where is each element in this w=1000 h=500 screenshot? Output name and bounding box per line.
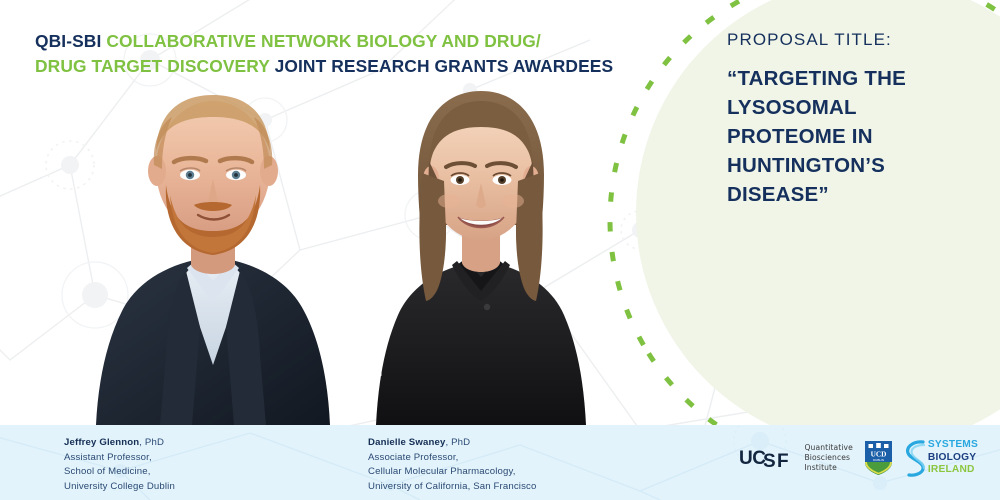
- ucd-logo: UCD DUBLIN: [864, 440, 893, 476]
- proposal-title: “TARGETING THE LYSOSOMAL PROTEOME IN HUN…: [727, 64, 977, 210]
- credit-name-line: Jeffrey Glennon, PhD: [64, 436, 175, 451]
- sbi-line-2: BIOLOGY: [928, 452, 978, 464]
- credit-degree: , PhD: [445, 437, 470, 448]
- proposal-block: PROPOSAL TITLE: “TARGETING THE LYSOSOMAL…: [727, 30, 977, 210]
- ucsf-sub-line-1: Quantitative: [804, 443, 852, 453]
- awardee-announcement-poster: QBI-SBI COLLABORATIVE NETWORK BIOLOGY AN…: [0, 0, 1000, 500]
- page-title: QBI-SBI COLLABORATIVE NETWORK BIOLOGY AN…: [35, 29, 615, 78]
- proposal-label: PROPOSAL TITLE:: [727, 30, 977, 50]
- ucsf-qbi-logo: UC S F Quantitative Biosciences Institut…: [739, 443, 852, 474]
- ucsf-sub-line-2: Biosciences: [804, 453, 852, 463]
- sbi-line-3: IRELAND: [928, 464, 978, 476]
- credit-line-4: University of California, San Francisco: [368, 480, 536, 495]
- footer-bar: Jeffrey Glennon, PhD Assistant Professor…: [0, 425, 1000, 500]
- credit-line-3: School of Medicine,: [64, 465, 175, 480]
- credit-degree: , PhD: [139, 437, 164, 448]
- credit-line-3: Cellular Molecular Pharmacology,: [368, 465, 536, 480]
- sbi-wordmark: SYSTEMS BIOLOGY IRELAND: [928, 439, 978, 476]
- credit-person-name: Jeffrey Glennon: [64, 437, 139, 448]
- ucsf-wordmark-icon: UC S F: [739, 447, 797, 469]
- svg-text:DUBLIN: DUBLIN: [873, 458, 884, 462]
- danielle-swaney-portrait: [356, 65, 606, 425]
- headline-part-3: DRUG TARGET DISCOVERY: [35, 56, 275, 76]
- systems-biology-ireland-logo: SYSTEMS BIOLOGY IRELAND: [904, 438, 978, 478]
- ucsf-sub-line-3: Institute: [804, 463, 852, 473]
- jeffrey-glennon-portrait: [88, 65, 338, 425]
- sbi-swoosh-icon: [904, 438, 926, 478]
- credit-line-2: Associate Professor,: [368, 451, 536, 466]
- ucsf-institute-name: Quantitative Biosciences Institute: [804, 443, 852, 474]
- credit-name-line: Danielle Swaney, PhD: [368, 436, 536, 451]
- credit-danielle-swaney: Danielle Swaney, PhD Associate Professor…: [368, 436, 536, 494]
- credit-line-2: Assistant Professor,: [64, 451, 175, 466]
- sbi-line-1: SYSTEMS: [928, 439, 978, 451]
- partner-logos: UC S F Quantitative Biosciences Institut…: [739, 438, 978, 478]
- headline-part-4: JOINT RESEARCH GRANTS AWARDEES: [275, 56, 614, 76]
- credit-person-name: Danielle Swaney: [368, 437, 445, 448]
- credit-line-4: University College Dublin: [64, 480, 175, 495]
- headline-part-2: COLLABORATIVE NETWORK BIOLOGY AND DRUG/: [106, 31, 540, 51]
- credit-jeffrey-glennon: Jeffrey Glennon, PhD Assistant Professor…: [64, 436, 175, 494]
- headline-part-1: QBI-SBI: [35, 31, 106, 51]
- svg-text:S: S: [763, 451, 775, 469]
- svg-text:F: F: [777, 451, 788, 469]
